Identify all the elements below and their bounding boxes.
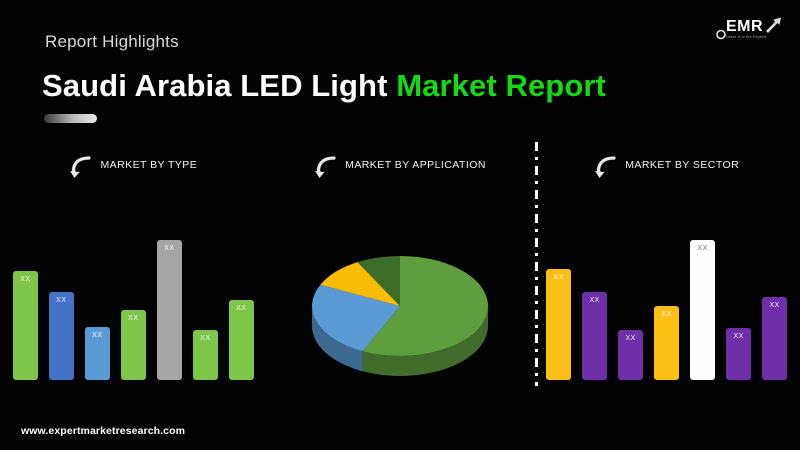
pie-chart-svg[interactable] [300,248,500,378]
slide-root: EMR Leave it to the Experts Report Highl… [0,0,800,450]
bar-value-label: XX [128,315,138,380]
page-title-accent: Market Report [396,68,606,103]
title-underline-pill [44,114,97,123]
bar[interactable]: XX [13,271,38,380]
bar-value-label: XX [236,305,246,380]
bar[interactable]: XX [618,330,643,380]
panels-container: MARKET BY TYPE XX XX XX XX XX XX XX [0,142,800,392]
bar[interactable]: XX [690,240,715,380]
bar-value-label: XX [20,276,30,380]
bar-value-label: XX [92,332,102,380]
panel-1-header: MARKET BY TYPE [0,146,267,184]
bar[interactable]: XX [85,327,110,380]
bar-value-label: XX [56,297,66,380]
bar-value-label: XX [590,297,600,380]
bar-value-label: XX [770,302,780,380]
panel-3-header: MARKET BY SECTOR [533,146,800,184]
emr-logo[interactable]: EMR Leave it to the Experts [712,10,786,44]
bar-value-label: XX [164,245,174,380]
bar[interactable]: XX [49,292,74,380]
bar[interactable]: XX [229,300,254,380]
panel-market-by-application: MARKET BY APPLICATION [267,142,534,392]
panel-market-by-type: MARKET BY TYPE XX XX XX XX XX XX XX [0,142,267,392]
bar-chart-market-by-sector: XX XX XX XX XX XX XX [533,240,800,380]
bar-chart-market-by-type: XX XX XX XX XX XX XX [0,240,267,380]
page-title: Saudi Arabia LED Light Market Report [42,68,606,104]
footer-website[interactable]: www.expertmarketresearch.com [21,425,185,437]
panel-market-by-sector: MARKET BY SECTOR XX XX XX XX XX XX XX [533,142,800,392]
bar[interactable]: XX [762,297,787,380]
curved-arrow-icon [69,154,93,184]
bar[interactable]: XX [582,292,607,380]
bar[interactable]: XX [546,269,571,380]
svg-text:Leave it to the Experts: Leave it to the Experts [726,35,767,39]
curved-arrow-icon [594,154,618,184]
bar[interactable]: XX [193,330,218,380]
bar-value-label: XX [698,245,708,380]
bar-value-label: XX [626,335,636,380]
panel-3-title: MARKET BY SECTOR [625,159,739,171]
emr-logo-mark: EMR Leave it to the Experts [712,10,786,44]
bar[interactable]: XX [157,240,182,380]
bar-value-label: XX [662,311,672,380]
curved-arrow-icon [314,154,338,184]
bar[interactable]: XX [121,310,146,380]
bar[interactable]: XX [654,306,679,380]
panel-1-title: MARKET BY TYPE [100,159,197,171]
panel-2-title: MARKET BY APPLICATION [345,159,486,171]
bar[interactable]: XX [726,328,751,380]
pie-chart-market-by-application [300,248,500,378]
bar-value-label: XX [554,274,564,380]
eyebrow-label: Report Highlights [45,32,179,52]
panel-2-header: MARKET BY APPLICATION [267,146,534,184]
page-title-main: Saudi Arabia LED Light [42,68,396,103]
bar-value-label: XX [734,333,744,380]
svg-text:EMR: EMR [726,18,763,35]
bar-value-label: XX [200,335,210,380]
